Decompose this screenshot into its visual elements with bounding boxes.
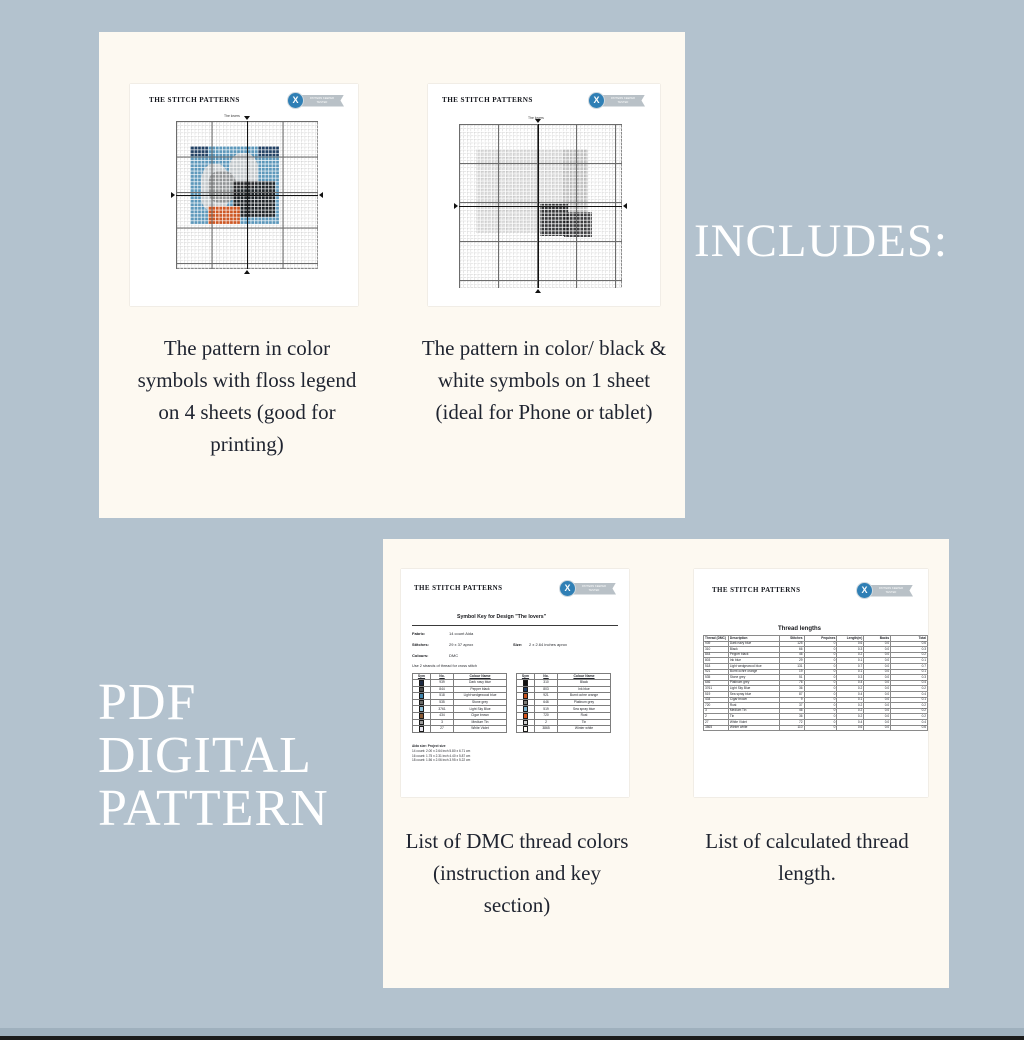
symbol-swatch-left bbox=[413, 706, 431, 713]
aida-size-line-1: 14 count: 2.00 x 2.64 inch 5.80 x 6.71 c… bbox=[412, 749, 470, 753]
dmc-number-right: 921 bbox=[535, 693, 558, 700]
colour-name-right: Sea spray blue bbox=[558, 706, 611, 713]
sheet-brand-title-4: THE STITCH PATTERNS bbox=[712, 586, 800, 594]
colour-swatch-icon bbox=[523, 687, 529, 693]
thread-lengths-body: 939Dark navy blue12500.60.00.6310Black66… bbox=[704, 641, 928, 731]
pattern-sheet-color-symbols[interactable]: THE STITCH PATTERNS X PATTERN KEEPER TES… bbox=[130, 84, 358, 306]
colour-name-left: Pepper black bbox=[454, 686, 507, 693]
colour-swatch-icon bbox=[523, 700, 529, 706]
size-label: Size: bbox=[513, 642, 522, 647]
chart-axis-horizontal bbox=[176, 195, 318, 196]
row-gap bbox=[507, 726, 517, 733]
pattern-sheet-symbol-key[interactable]: THE STITCH PATTERNS X PATTERN KEEPER TES… bbox=[401, 569, 629, 797]
badge-seal-icon: X bbox=[287, 92, 304, 109]
symbol-swatch-right bbox=[517, 726, 535, 733]
table-row: 3Medium Tin2Tin bbox=[413, 719, 611, 726]
table-row: 3761Light Sky Blue519Sea spray blue bbox=[413, 706, 611, 713]
caption-thread-length: List of calculated thread length. bbox=[688, 826, 926, 890]
badge-seal-icon-3: X bbox=[559, 580, 576, 597]
badge-ribbon-3: PATTERN KEEPER TESTED bbox=[572, 583, 616, 595]
pdf-digital-pattern-headline: PDF DIGITAL PATTERN bbox=[98, 676, 329, 835]
stitches-value: 29 x 37 aprox bbox=[449, 642, 473, 647]
cell-length: 0.6 bbox=[837, 725, 864, 731]
symbol-swatch-right bbox=[517, 706, 535, 713]
pattern-keeper-badge-3: X PATTERN KEEPER TESTED bbox=[559, 580, 616, 597]
pattern-sheet-thread-lengths[interactable]: THE STITCH PATTERNS X PATTERN KEEPER TES… bbox=[694, 569, 928, 797]
thread-lengths-table[interactable]: Thread (DMC) Description Stitches Pequin… bbox=[703, 635, 928, 731]
dmc-number-right: 2 bbox=[535, 719, 558, 726]
colour-name-left: Medium Tin bbox=[454, 719, 507, 726]
fabric-value: 14 count Aida bbox=[449, 631, 473, 636]
symbol-swatch-left bbox=[413, 686, 431, 693]
aida-size-line-3: 18 count: 1.56 x 2.06 inch 3.95 x 5.22 c… bbox=[412, 758, 470, 762]
colours-label: Colours: bbox=[412, 653, 428, 658]
cell-stitches: 110 bbox=[779, 725, 804, 731]
aida-size-footer: Aida size: Project size 14 count: 2.00 x… bbox=[412, 744, 470, 763]
stitch-chart-color[interactable] bbox=[176, 121, 318, 269]
sheet-brand-title: THE STITCH PATTERNS bbox=[149, 96, 240, 104]
fabric-label: Fabric: bbox=[412, 631, 425, 636]
badge-ribbon-line1: PATTERN KEEPER bbox=[310, 97, 334, 100]
dmc-number-left: 434 bbox=[431, 713, 454, 720]
dmc-number-left: 939 bbox=[431, 680, 454, 687]
chart-marker-left-2 bbox=[454, 203, 458, 209]
chart-marker-top bbox=[244, 116, 250, 120]
colour-name-right: Black bbox=[558, 680, 611, 687]
aida-size-title: Aida size: Project size bbox=[412, 744, 445, 748]
symbol-swatch-right bbox=[517, 680, 535, 687]
symbol-swatch-right bbox=[517, 699, 535, 706]
colour-swatch-icon bbox=[419, 693, 425, 699]
table-row: 844Pepper black803Ink blue bbox=[413, 686, 611, 693]
colour-name-right: Winter white bbox=[558, 726, 611, 733]
row-gap bbox=[507, 680, 517, 687]
colour-swatch-icon bbox=[419, 726, 425, 732]
badge-ribbon-line2: TESTED bbox=[317, 101, 328, 104]
strands-note: Use 2 strands of thread for cross stitch bbox=[412, 664, 477, 668]
includes-headline: INCLUDES: bbox=[694, 218, 948, 266]
dmc-number-left: 518 bbox=[431, 693, 454, 700]
row-gap bbox=[507, 713, 517, 720]
dmc-number-left: 535 bbox=[431, 699, 454, 706]
pdf-line-2: DIGITAL bbox=[98, 729, 329, 782]
symbol-swatch-left bbox=[413, 699, 431, 706]
badge-seal-icon-4: X bbox=[856, 582, 873, 599]
poster-canvas: THE STITCH PATTERNS X PATTERN KEEPER TES… bbox=[0, 0, 1024, 1040]
badge-ribbon-2: PATTERN KEEPER TESTED bbox=[601, 95, 645, 107]
colour-name-right: Rust bbox=[558, 713, 611, 720]
row-gap bbox=[507, 693, 517, 700]
badge-ribbon-line2-3: TESTED bbox=[589, 589, 600, 592]
colour-name-left: White Violet bbox=[454, 726, 507, 733]
chart-design-name-1: The lovers bbox=[224, 114, 240, 118]
row-gap bbox=[507, 699, 517, 706]
colours-value: DMC bbox=[449, 653, 458, 658]
colour-name-right: Tin bbox=[558, 719, 611, 726]
badge-ribbon-4: PATTERN KEEPER TESTED bbox=[869, 585, 913, 597]
dmc-number-left: 3761 bbox=[431, 706, 454, 713]
symbol-key-rule bbox=[412, 625, 618, 626]
symbol-swatch-right bbox=[517, 693, 535, 700]
dmc-number-right: 519 bbox=[535, 706, 558, 713]
colour-swatch-icon bbox=[523, 726, 529, 732]
symbol-swatch-left bbox=[413, 719, 431, 726]
cell-description: Winter white bbox=[728, 725, 779, 731]
table-row: 3865Winter white11000.60.00.6 bbox=[704, 725, 928, 731]
caption-bw-symbols: The pattern in color/ black & white symb… bbox=[420, 333, 668, 429]
symbol-key-table[interactable]: Sym No. Colour Name Sym No. Colour Name … bbox=[412, 673, 611, 733]
chart-marker-bottom-2 bbox=[535, 289, 541, 293]
colour-swatch-icon bbox=[419, 713, 425, 719]
badge-ribbon-line2-4: TESTED bbox=[886, 591, 897, 594]
caption-color-symbols: The pattern in color symbols with floss … bbox=[128, 333, 366, 461]
colour-name-left: Dark navy blue bbox=[454, 680, 507, 687]
row-gap bbox=[507, 686, 517, 693]
dmc-number-right: 803 bbox=[535, 686, 558, 693]
stitches-label: Stitches: bbox=[412, 642, 429, 647]
thread-lengths-title: Thread lengths bbox=[778, 626, 821, 632]
pattern-keeper-badge-2: X PATTERN KEEPER TESTED bbox=[588, 92, 645, 109]
pdf-line-1: PDF bbox=[98, 676, 329, 729]
chart-marker-top-2 bbox=[535, 119, 541, 123]
table-row: 518Light wedgewood blue921Burnt ochre or… bbox=[413, 693, 611, 700]
colour-swatch-icon bbox=[419, 687, 425, 693]
colour-swatch-icon bbox=[419, 680, 425, 686]
badge-ribbon-line1-2: PATTERN KEEPER bbox=[611, 97, 635, 100]
stitch-chart-bw[interactable] bbox=[459, 124, 622, 288]
colour-name-right: Platinum grey bbox=[558, 699, 611, 706]
symbol-swatch-left bbox=[413, 680, 431, 687]
symbol-key-body: 939Dark navy blue310Black844Pepper black… bbox=[413, 680, 611, 733]
caption-dmc-list: List of DMC thread colors (instruction a… bbox=[404, 826, 630, 922]
dmc-number-left: 27 bbox=[431, 726, 454, 733]
table-row: 939Dark navy blue310Black bbox=[413, 680, 611, 687]
symbol-swatch-left bbox=[413, 726, 431, 733]
pattern-keeper-badge-4: X PATTERN KEEPER TESTED bbox=[856, 582, 913, 599]
table-row: 434Cigar brown720Rust bbox=[413, 713, 611, 720]
symbol-swatch-right bbox=[517, 686, 535, 693]
colour-swatch-icon bbox=[523, 720, 529, 726]
cell-total: 0.6 bbox=[891, 725, 928, 731]
badge-ribbon-line2-2: TESTED bbox=[618, 101, 629, 104]
dmc-number-right: 3865 bbox=[535, 726, 558, 733]
chart-marker-bottom bbox=[244, 270, 250, 274]
row-gap bbox=[507, 719, 517, 726]
cell-pequines: 0 bbox=[804, 725, 837, 731]
symbol-swatch-right bbox=[517, 713, 535, 720]
sheet-brand-title-3: THE STITCH PATTERNS bbox=[414, 584, 502, 592]
dmc-number-right: 310 bbox=[535, 680, 558, 687]
table-row: 535Stone grey646Platinum grey bbox=[413, 699, 611, 706]
colour-swatch-icon bbox=[523, 680, 529, 686]
chart-marker-left bbox=[171, 192, 175, 198]
row-gap bbox=[507, 706, 517, 713]
pdf-line-3: PATTERN bbox=[98, 782, 329, 835]
colour-name-left: Cigar brown bbox=[454, 713, 507, 720]
colour-name-left: Stone grey bbox=[454, 699, 507, 706]
colour-name-left: Light Sky Blue bbox=[454, 706, 507, 713]
dmc-number-right: 720 bbox=[535, 713, 558, 720]
dmc-number-left: 3 bbox=[431, 719, 454, 726]
colour-name-right: Burnt ochre orange bbox=[558, 693, 611, 700]
symbol-key-heading: Symbol Key for Design "The lovers" bbox=[457, 614, 546, 620]
colour-name-right: Ink blue bbox=[558, 686, 611, 693]
chart-marker-right-2 bbox=[623, 203, 627, 209]
badge-seal-icon-2: X bbox=[588, 92, 605, 109]
symbol-swatch-right bbox=[517, 719, 535, 726]
chart-axis-horizontal-2 bbox=[459, 206, 622, 207]
colour-swatch-icon bbox=[419, 700, 425, 706]
dmc-number-left: 844 bbox=[431, 686, 454, 693]
symbol-swatch-left bbox=[413, 693, 431, 700]
badge-ribbon-line1-4: PATTERN KEEPER bbox=[879, 587, 903, 590]
pattern-keeper-badge: X PATTERN KEEPER TESTED bbox=[287, 92, 344, 109]
aida-size-line-2: 16 count: 1.75 x 2.31 inch 4.40 x 5.87 c… bbox=[412, 754, 470, 758]
pattern-sheet-bw-symbols[interactable]: THE STITCH PATTERNS X PATTERN KEEPER TES… bbox=[428, 84, 660, 306]
colour-name-left: Light wedgewood blue bbox=[454, 693, 507, 700]
colour-swatch-icon bbox=[419, 720, 425, 726]
cell-backs: 0.0 bbox=[864, 725, 891, 731]
colour-swatch-icon bbox=[523, 713, 529, 719]
colour-swatch-icon bbox=[419, 706, 425, 712]
size-value: 2 x 2.64 inches aprox bbox=[529, 642, 567, 647]
badge-ribbon-line1-3: PATTERN KEEPER bbox=[582, 585, 606, 588]
chart-marker-right bbox=[319, 192, 323, 198]
bottom-edge bbox=[0, 1036, 1024, 1040]
table-row: 27White Violet3865Winter white bbox=[413, 726, 611, 733]
badge-ribbon: PATTERN KEEPER TESTED bbox=[300, 95, 344, 107]
colour-swatch-icon bbox=[523, 693, 529, 699]
colour-swatch-icon bbox=[523, 706, 529, 712]
sheet-brand-title-2: THE STITCH PATTERNS bbox=[442, 96, 533, 104]
cell-thread: 3865 bbox=[704, 725, 729, 731]
symbol-swatch-left bbox=[413, 713, 431, 720]
dmc-number-right: 646 bbox=[535, 699, 558, 706]
